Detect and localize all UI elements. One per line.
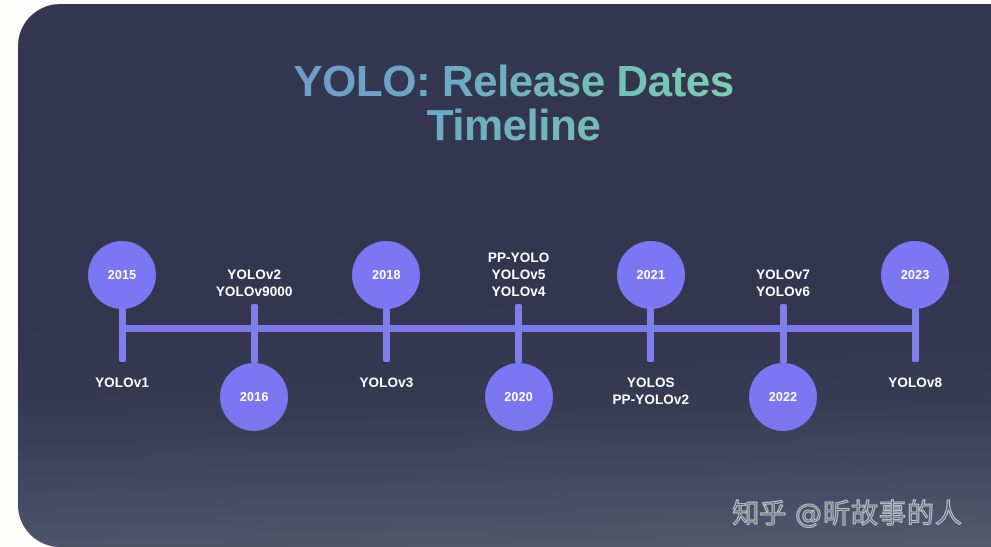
slide-panel: YOLO: Release Dates Timeline 2015YOLOv12… [18, 4, 991, 547]
timeline-node-stem [912, 308, 919, 362]
timeline-node-label: YOLOv3 [276, 374, 496, 391]
timeline-node-label-line: YOLOv9000 [144, 283, 364, 300]
timeline-node-label-line: YOLOv8 [805, 374, 991, 391]
timeline-node-year: 2023 [901, 268, 930, 282]
timeline-node-label-line: YOLOv6 [673, 283, 893, 300]
timeline-node-year: 2018 [372, 268, 401, 282]
timeline-node-year: 2022 [769, 390, 798, 404]
timeline-node-stem [119, 308, 126, 362]
timeline-node-label-line: YOLOv4 [409, 283, 629, 300]
timeline-node-label-line: YOLOv2 [144, 266, 364, 283]
timeline-node-label: YOLOv7YOLOv6 [673, 266, 893, 300]
timeline-node-label: PP-YOLOYOLOv5YOLOv4 [409, 249, 629, 300]
timeline-node-stem [515, 304, 522, 363]
timeline-node-circle[interactable]: 2023 [881, 241, 949, 309]
watermark: 知乎 @昕故事的人 [732, 500, 963, 530]
timeline-node-label: YOLOSPP-YOLOv2 [541, 374, 761, 408]
timeline-node-year: 2021 [636, 268, 665, 282]
timeline-node-label-line: PP-YOLOv2 [541, 391, 761, 408]
timeline-node-year: 2016 [240, 390, 269, 404]
slide-canvas: YOLO: Release Dates Timeline 2015YOLOv12… [0, 0, 991, 547]
watermark-site: 知乎 [732, 499, 786, 530]
timeline-node-label-line: YOLOv7 [673, 266, 893, 283]
timeline-node-label-line: YOLOv3 [276, 374, 496, 391]
timeline-node-label: YOLOv2YOLOv9000 [144, 266, 364, 300]
timeline-node-stem [647, 308, 654, 362]
timeline-node-label: YOLOv1 [18, 374, 232, 391]
timeline-node-label-line: YOLOv5 [409, 266, 629, 283]
timeline-node-stem [383, 308, 390, 362]
timeline-node-label-line: YOLOS [541, 374, 761, 391]
timeline-node-year: 2015 [108, 268, 137, 282]
timeline-node-label-line: PP-YOLO [409, 249, 629, 266]
timeline-node-stem [251, 304, 258, 363]
timeline-node-label-line: YOLOv1 [18, 374, 232, 391]
timeline-diagram: 2015YOLOv12016YOLOv2YOLOv90002018YOLOv32… [18, 4, 991, 547]
timeline-node-label: YOLOv8 [805, 374, 991, 391]
timeline-node-stem [780, 304, 787, 363]
timeline-node-year: 2020 [504, 390, 533, 404]
watermark-user: @昕故事的人 [795, 499, 963, 530]
